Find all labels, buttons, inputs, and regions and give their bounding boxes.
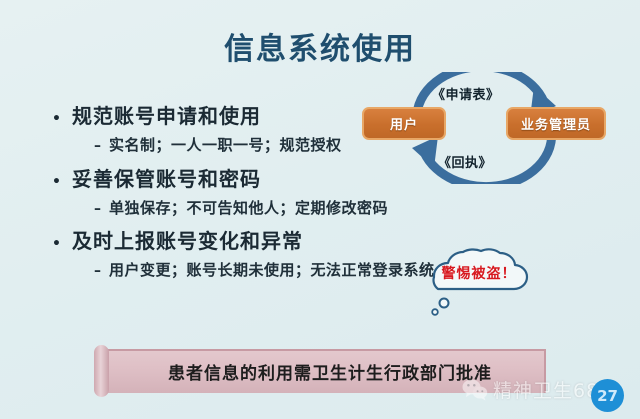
warning-cloud-text: 警惕被盗！ (404, 263, 554, 283)
diagram-node-admin[interactable]: 业务管理员 (506, 107, 606, 140)
bullet-marker-icon: • (52, 111, 72, 129)
wechat-logo-icon (462, 379, 488, 401)
watermark-badge: 27 (591, 379, 624, 412)
banner-scroll-roll-icon (94, 345, 109, 397)
cycle-diagram: 用户 业务管理员 《申请表》 《回执》 (358, 72, 610, 184)
page-title: 信息系统使用 (0, 24, 640, 68)
bullet-marker-icon: • (52, 174, 72, 192)
sub-bullet-text: 实名制；一人一职一号；规范授权 (109, 136, 342, 156)
thought-cloud-icon (404, 247, 564, 319)
slide-canvas: 信息系统使用 • 规范账号申请和使用 – 实名制；一人一职一号；规范授权 • 妥… (0, 0, 640, 419)
bullet-text: 及时上报账号变化和异常 (72, 229, 303, 254)
diagram-node-admin-label: 业务管理员 (521, 114, 591, 133)
dash-marker-icon: – (94, 137, 109, 155)
sub-bullet-item: – 单独保存；不可告知他人；定期修改密码 (94, 199, 572, 219)
arrow-label-application-form: 《申请表》 (432, 84, 500, 103)
bullet-text: 妥善保管账号和密码 (72, 167, 261, 192)
watermark: 精神卫生686 (462, 376, 612, 403)
diagram-node-user[interactable]: 用户 (362, 107, 446, 140)
diagram-node-user-label: 用户 (390, 114, 418, 133)
warning-thought-cloud: 警惕被盗！ (404, 247, 564, 319)
dash-marker-icon: – (94, 262, 109, 280)
sub-bullet-text: 用户变更；账号长期未使用；无法正常登录系统 (109, 261, 435, 281)
sub-bullet-text: 单独保存；不可告知他人；定期修改密码 (109, 199, 388, 219)
bullet-text: 规范账号申请和使用 (72, 104, 261, 129)
arrow-label-receipt: 《回执》 (438, 152, 492, 171)
dash-marker-icon: – (94, 200, 109, 218)
bullet-marker-icon: • (52, 236, 72, 254)
